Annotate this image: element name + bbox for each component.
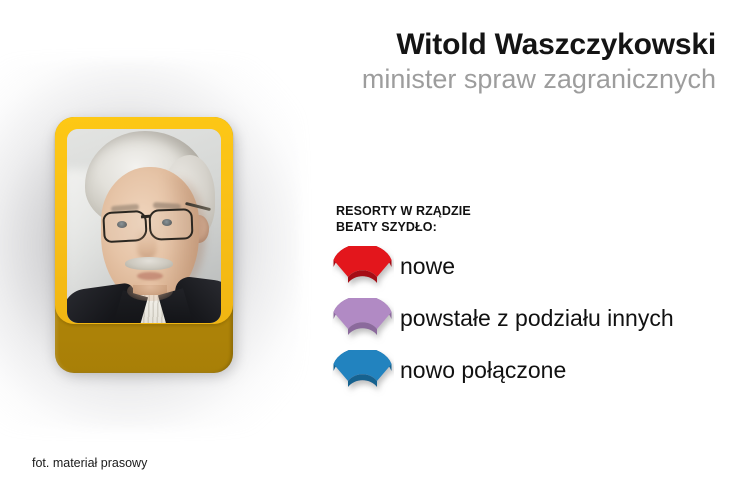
pie-wedge-icon <box>332 298 394 346</box>
pie-wedge-icon <box>332 350 394 398</box>
photo-credit: fot. materiał prasowy <box>32 456 147 470</box>
legend-list: nowe powstałe z podziału in <box>332 246 752 402</box>
legend-title: RESORTY W RZĄDZIE BEATY SZYDŁO: <box>336 203 471 235</box>
legend-item-nowo-polaczone: nowo połączone <box>332 350 752 402</box>
headline-block: Witold Waszczykowski minister spraw zagr… <box>216 28 716 94</box>
person-role: minister spraw zagranicznych <box>216 64 716 95</box>
card-photo-frame <box>55 117 233 324</box>
legend-title-line-2: BEATY SZYDŁO: <box>336 219 471 235</box>
legend-item-powstale-z-podzialu-innych: powstałe z podziału innych <box>332 298 752 350</box>
legend-label: nowo połączone <box>400 356 566 385</box>
portrait-card <box>55 117 233 375</box>
legend-title-line-1: RESORTY W RZĄDZIE <box>336 203 471 219</box>
legend-label: nowe <box>400 252 455 281</box>
pie-wedge-icon <box>332 246 394 294</box>
person-name: Witold Waszczykowski <box>216 28 716 62</box>
portrait-moustache <box>125 257 173 270</box>
portrait-photo <box>67 129 221 323</box>
legend-item-nowe: nowe <box>332 246 752 298</box>
legend-label: powstałe z podziału innych <box>400 304 674 333</box>
infographic-slide: Witold Waszczykowski minister spraw zagr… <box>0 0 754 500</box>
